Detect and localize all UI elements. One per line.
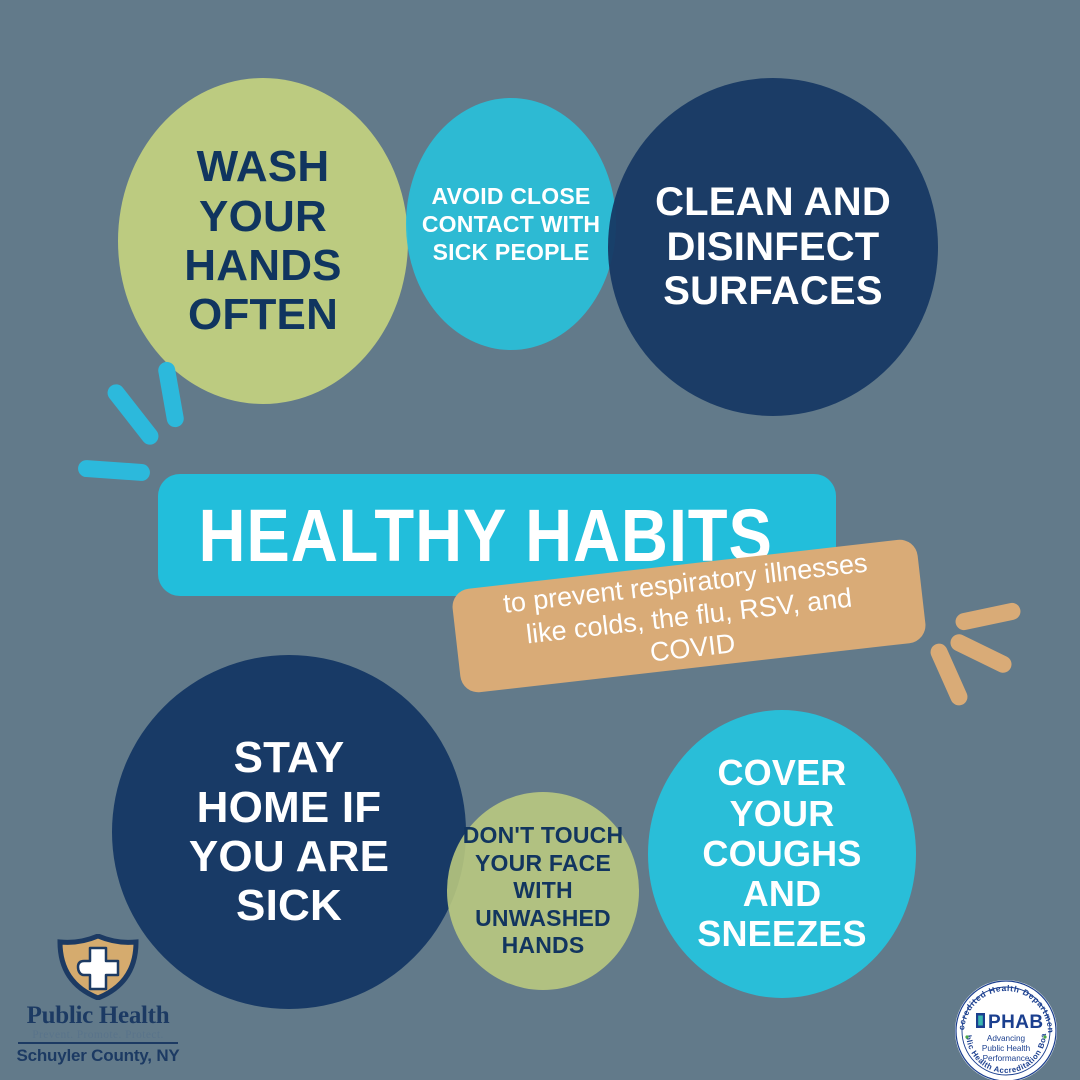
circle-wash-your-hands: WASH YOUR HANDS OFTEN	[118, 78, 408, 404]
circle-avoid-label: AVOID CLOSE CONTACT WITH SICK PEOPLE	[416, 182, 606, 266]
circle-cover-coughs-sneezes: COVER YOUR COUGHS AND SNEEZES	[648, 710, 916, 998]
circle-avoid-close-contact: AVOID CLOSE CONTACT WITH SICK PEOPLE	[406, 98, 616, 350]
shield-cross-icon-wrap	[12, 934, 184, 1000]
sparkle-tan-icon	[948, 631, 1015, 675]
phab-accreditation-seal: Accredited Health Department Public Heal…	[950, 975, 1062, 1080]
phab-line2: Public Health	[982, 1044, 1031, 1053]
circle-clean-and-disinfect: CLEAN AND DISINFECT SURFACES	[608, 78, 938, 416]
circle-dont-touch-label: DON'T TOUCH YOUR FACE WITH UNWASHED HAND…	[457, 822, 630, 960]
phab-line3: Performance	[983, 1054, 1030, 1063]
sparkle-tan-icon	[954, 601, 1022, 631]
phab-acronym: PHAB	[988, 1012, 1043, 1033]
logo-divider	[18, 1042, 178, 1044]
circle-wash-label: WASH YOUR HANDS OFTEN	[178, 142, 347, 339]
public-health-name: Public Health	[12, 1002, 184, 1030]
shield-cross-icon	[54, 934, 142, 1000]
sparkle-cyan-icon	[104, 381, 162, 448]
public-health-logo: Public Health Prevent. Promote. Protect.…	[12, 934, 184, 1072]
circle-cover-label: COVER YOUR COUGHS AND SNEEZES	[691, 753, 872, 955]
phab-line1: Advancing	[987, 1034, 1026, 1043]
circle-clean-label: CLEAN AND DISINFECT SURFACES	[649, 180, 897, 314]
public-health-county: Schuyler County, NY	[12, 1046, 184, 1066]
sparkle-cyan-icon	[77, 460, 150, 482]
phab-seal-icon: Accredited Health Department Public Heal…	[950, 975, 1062, 1080]
circle-dont-touch-face: DON'T TOUCH YOUR FACE WITH UNWASHED HAND…	[447, 792, 639, 990]
healthy-habits-infographic: WASH YOUR HANDS OFTEN AVOID CLOSE CONTAC…	[0, 0, 1080, 1080]
circle-stay-label: STAY HOME IF YOU ARE SICK	[183, 733, 395, 930]
public-health-tagline: Prevent. Promote. Protect.	[12, 1029, 184, 1041]
